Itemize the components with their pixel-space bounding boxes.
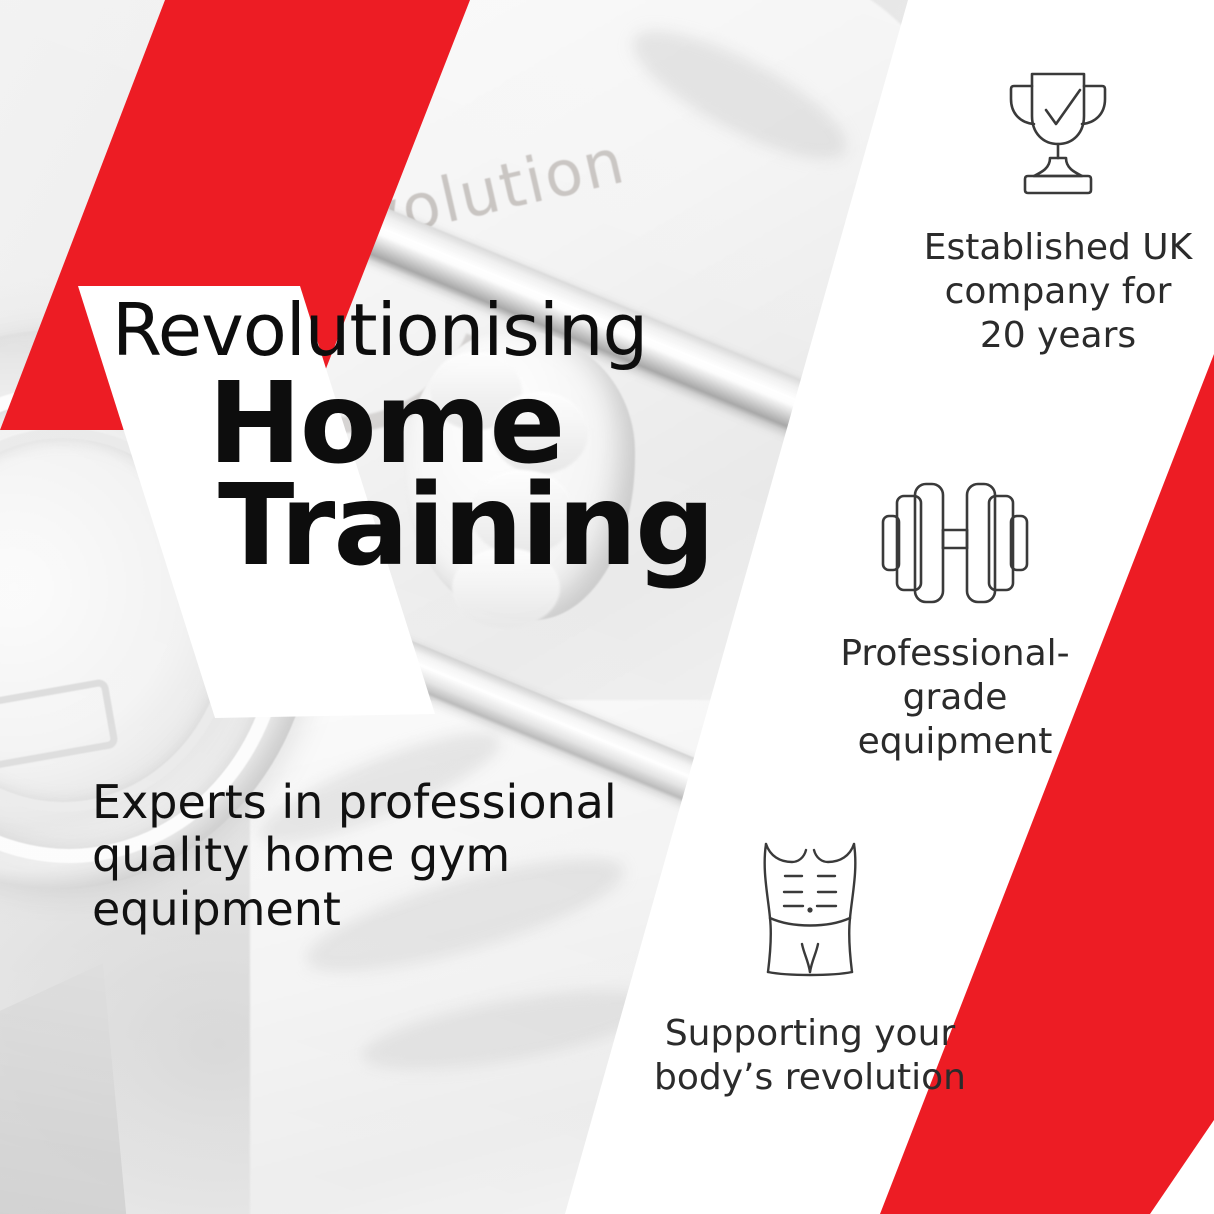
headline-line-1: Revolutionising <box>112 296 752 365</box>
headline-block: Revolutionising Home Training <box>112 296 752 580</box>
feature-body-revolution: Supporting your body’s revolution <box>640 840 980 1100</box>
feature-established-uk: Established UK company for 20 years <box>900 66 1214 358</box>
feature-label: Supporting your body’s revolution <box>640 1012 980 1100</box>
dumbbell-icon <box>790 480 1120 606</box>
subheadline: Experts in professional quality home gym… <box>92 776 692 936</box>
trophy-check-icon <box>900 66 1214 200</box>
feature-label: Professional-grade equipment <box>790 632 1120 764</box>
torso-abs-icon <box>640 840 980 986</box>
feature-label: Established UK company for 20 years <box>900 226 1214 358</box>
feature-professional-grade: Professional-grade equipment <box>790 480 1120 764</box>
headline-line-3: Training <box>218 473 752 581</box>
promo-banner: revolution Revolutionising Home Training… <box>0 0 1214 1214</box>
